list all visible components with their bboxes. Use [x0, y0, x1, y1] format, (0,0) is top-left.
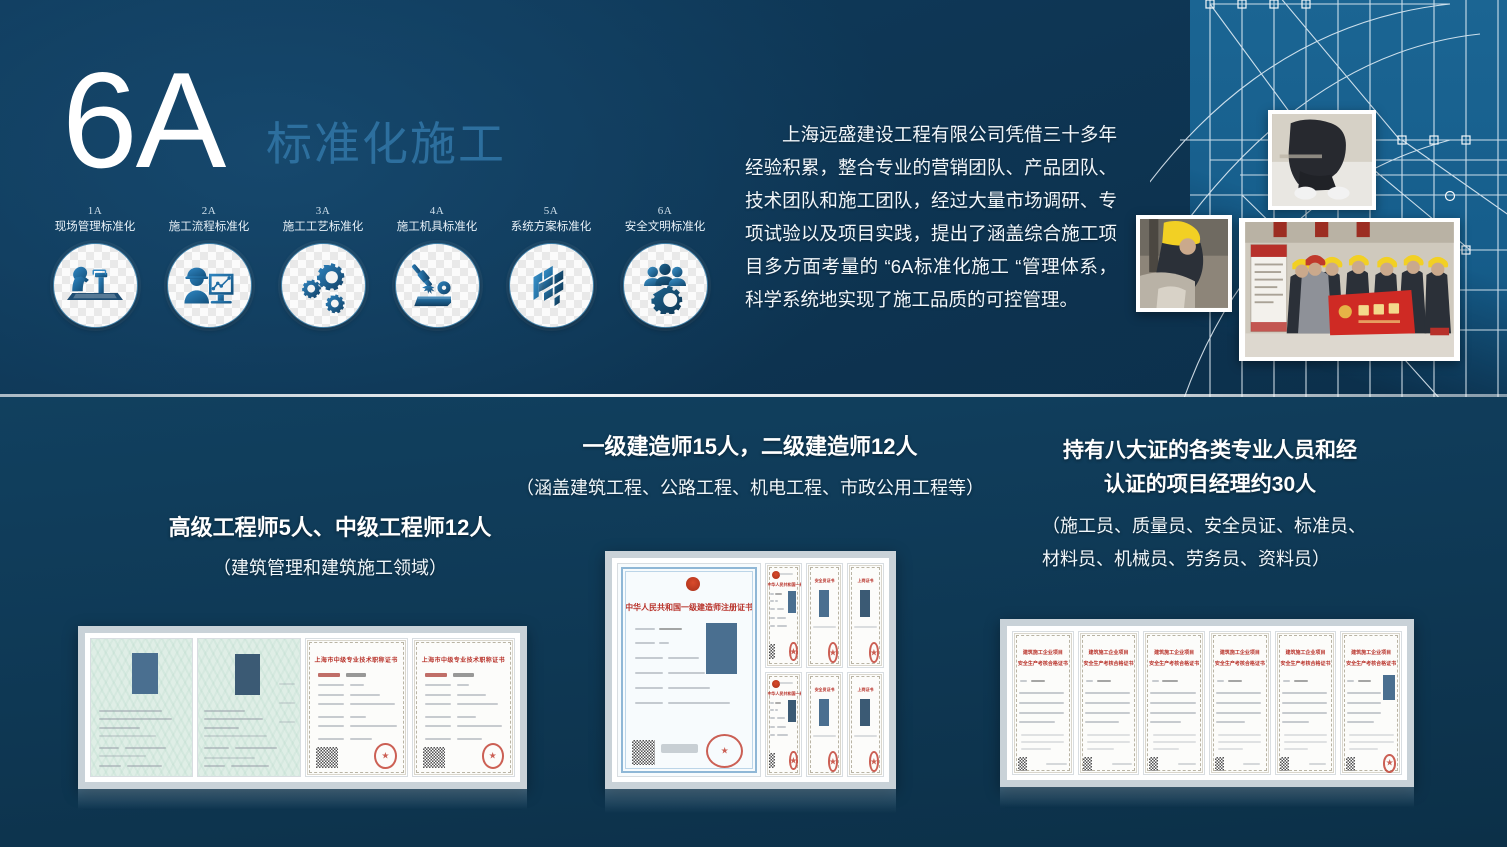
eight-certs-title: 持有八大证的各类专业人员和经 认证的项目经理约30人: [1000, 434, 1420, 502]
pillar-label: 现场管理标准化: [55, 218, 136, 236]
pillar-item-3a[interactable]: 3A 施工工艺标准化: [268, 204, 378, 364]
pillar-icon-wrap: [623, 243, 708, 328]
certificate-title-line2: 安全生产考核合格证书: [1017, 660, 1070, 667]
pillar-code: 3A: [316, 204, 330, 218]
certificate-small: 安全员证书: [806, 672, 843, 777]
certificate-small: 中华人民共和国一级建造师注册证书: [765, 672, 802, 777]
pillar-item-5a[interactable]: 5A 系统方案标准化: [496, 204, 606, 364]
certificate-title-line2: 安全生产考核合格证书: [1214, 660, 1267, 667]
certificate-small-title: 上岗证书: [849, 687, 881, 693]
certificate-safety-1: 建筑施工企业项目 安全生产考核合格证书: [1012, 631, 1074, 775]
certificate-title-line2: 安全生产考核合格证书: [1148, 660, 1201, 667]
pillar-code: 6A: [658, 204, 672, 218]
welding-machine-icon: [409, 258, 465, 314]
certificate-sheet: 上海市中级专业技术职称证书 上海市中级专业技术职称证书: [85, 633, 520, 782]
certificate-small-title: 安全员证书: [809, 578, 841, 584]
certificate-safety-6: 建筑施工企业项目 安全生产考核合格证书: [1340, 631, 1402, 775]
certificate-main-constructor: 中华人民共和国一级建造师注册证书: [617, 563, 761, 777]
pillar-item-6a[interactable]: 6A 安全文明标准化: [610, 204, 720, 364]
photo-worker-helmet: [1136, 215, 1232, 312]
poster-canvas: 6A 标准化施工 1A 现场管理标准化 2A: [0, 0, 1507, 847]
certificate-title-line1: 建筑施工企业项目: [1082, 649, 1135, 656]
eight-certs-subtitle: （施工员、质量员、安全员证、标准员、 材料员、机械员、劳务员、资料员）: [1000, 510, 1420, 576]
certificate-title-line1: 建筑施工企业项目: [1148, 649, 1201, 656]
certificate-safety-3: 建筑施工企业项目 安全生产考核合格证书: [1143, 631, 1205, 775]
constructors-subtitle: （涵盖建筑工程、公路工程、机电工程、市政公用工程等）: [455, 474, 1045, 502]
pillar-code: 1A: [88, 204, 102, 218]
certificate-title-line2: 安全生产考核合格证书: [1082, 660, 1135, 667]
team-gear-icon: [637, 258, 693, 314]
certificate-main-title: 中华人民共和国一级建造师注册证书: [624, 602, 755, 613]
certificates-constructors-plate: 中华人民共和国一级建造师注册证书 中华人民共和国一级建造师注: [605, 551, 896, 789]
pillar-icon-wrap: [281, 243, 366, 328]
certificate-sheet-2: 上海市中级专业技术职称证书: [412, 638, 515, 777]
certificate-safety-5: 建筑施工企业项目 安全生产考核合格证书: [1275, 631, 1337, 775]
certificate-small-row-1: 中华人民共和国一级建造师注册证书 安全员证书: [765, 563, 884, 668]
pillar-icon-wrap: [53, 243, 138, 328]
pillar-label: 施工机具标准化: [397, 218, 478, 236]
certificate-small: 上岗证书: [847, 563, 884, 668]
certificate-small-title: 中华人民共和国一级建造师注册证书: [768, 691, 800, 697]
certificates-eight-plate: 建筑施工企业项目 安全生产考核合格证书 建筑施工企业项目 安全生产考核合格证书: [1000, 619, 1414, 787]
gears-icon: [295, 258, 351, 314]
worker-monitor-chart-icon: [181, 258, 237, 314]
certificate-booklet-1: [90, 638, 193, 777]
pillar-label: 系统方案标准化: [511, 218, 592, 236]
company-intro-paragraph: 上海远盛建设工程有限公司凭借三十多年经验积累，整合专业的营销团队、产品团队、技术…: [745, 118, 1117, 316]
pillar-icon-wrap: [509, 243, 594, 328]
page-subtitle: 标准化施工: [266, 121, 506, 167]
pillar-list: 1A 现场管理标准化 2A 施工流程标准化: [40, 204, 720, 364]
certificate-title-line1: 建筑施工企业项目: [1279, 649, 1332, 656]
pillar-label: 施工流程标准化: [169, 218, 250, 236]
engineers-title: 高级工程师5人、中级工程师12人: [95, 513, 565, 543]
pillar-icon-wrap: [167, 243, 252, 328]
certificate-title-line1: 建筑施工企业项目: [1017, 649, 1070, 656]
certificate-title-line1: 建筑施工企业项目: [1344, 649, 1399, 656]
eight-certs-title-line2: 认证的项目经理约30人: [1000, 468, 1420, 502]
certificate-small-title: 上岗证书: [849, 578, 881, 584]
certificate-safety-4: 建筑施工企业项目 安全生产考核合格证书: [1209, 631, 1271, 775]
pillar-label: 施工工艺标准化: [283, 218, 364, 236]
certificate-sheet-1: 上海市中级专业技术职称证书: [305, 638, 408, 777]
certificate-small-group: 中华人民共和国一级建造师注册证书 安全员证书: [765, 563, 884, 777]
certificate-title: 上海市中级专业技术职称证书: [314, 655, 399, 664]
eight-certs-title-line1: 持有八大证的各类专业人员和经: [1000, 434, 1420, 468]
package-cube-icon: [523, 258, 579, 314]
certificate-title-line1: 建筑施工企业项目: [1214, 649, 1267, 656]
certificate-small-title: 中华人民共和国一级建造师注册证书: [768, 582, 800, 588]
certificate-sheet: 中华人民共和国一级建造师注册证书 中华人民共和国一级建造师注: [612, 558, 889, 782]
certificates-engineers-plate: 上海市中级专业技术职称证书 上海市中级专业技术职称证书: [78, 626, 527, 789]
certificate-small-row-2: 中华人民共和国一级建造师注册证书 安全员证书: [765, 672, 884, 777]
pillar-code: 2A: [202, 204, 216, 218]
certificate-small: 上岗证书: [847, 672, 884, 777]
certificate-safety-2: 建筑施工企业项目 安全生产考核合格证书: [1078, 631, 1140, 775]
constructors-title: 一级建造师15人，二级建造师12人: [480, 432, 1020, 462]
pillar-label: 安全文明标准化: [625, 218, 706, 236]
certificate-small: 中华人民共和国一级建造师注册证书: [765, 563, 802, 668]
surveyor-icon: [67, 258, 123, 314]
certificate-sheet: 建筑施工企业项目 安全生产考核合格证书 建筑施工企业项目 安全生产考核合格证书: [1007, 626, 1407, 780]
certificate-title-line2: 安全生产考核合格证书: [1344, 660, 1399, 667]
pillar-icon-wrap: [395, 243, 480, 328]
certificate-title: 上海市中级专业技术职称证书: [421, 655, 506, 664]
engineers-subtitle: （建筑管理和建筑施工领域）: [95, 554, 565, 582]
photo-worker-kneeling: [1268, 110, 1376, 210]
eight-certs-subtitle-line1: （施工员、质量员、安全员证、标准员、: [1042, 510, 1420, 543]
pillar-code: 5A: [544, 204, 558, 218]
page-title: 6A: [62, 52, 224, 188]
pillar-item-2a[interactable]: 2A 施工流程标准化: [154, 204, 264, 364]
eight-certs-subtitle-line2: 材料员、机械员、劳务员、资料员）: [1042, 543, 1420, 576]
certificate-small: 安全员证书: [806, 563, 843, 668]
pillar-item-4a[interactable]: 4A 施工机具标准化: [382, 204, 492, 364]
certificate-small-title: 安全员证书: [809, 687, 841, 693]
photo-team-banner: [1239, 218, 1460, 361]
pillar-code: 4A: [430, 204, 444, 218]
certificate-title-line2: 安全生产考核合格证书: [1279, 660, 1332, 667]
certificate-booklet-2: [197, 638, 300, 777]
pillar-item-1a[interactable]: 1A 现场管理标准化: [40, 204, 150, 364]
